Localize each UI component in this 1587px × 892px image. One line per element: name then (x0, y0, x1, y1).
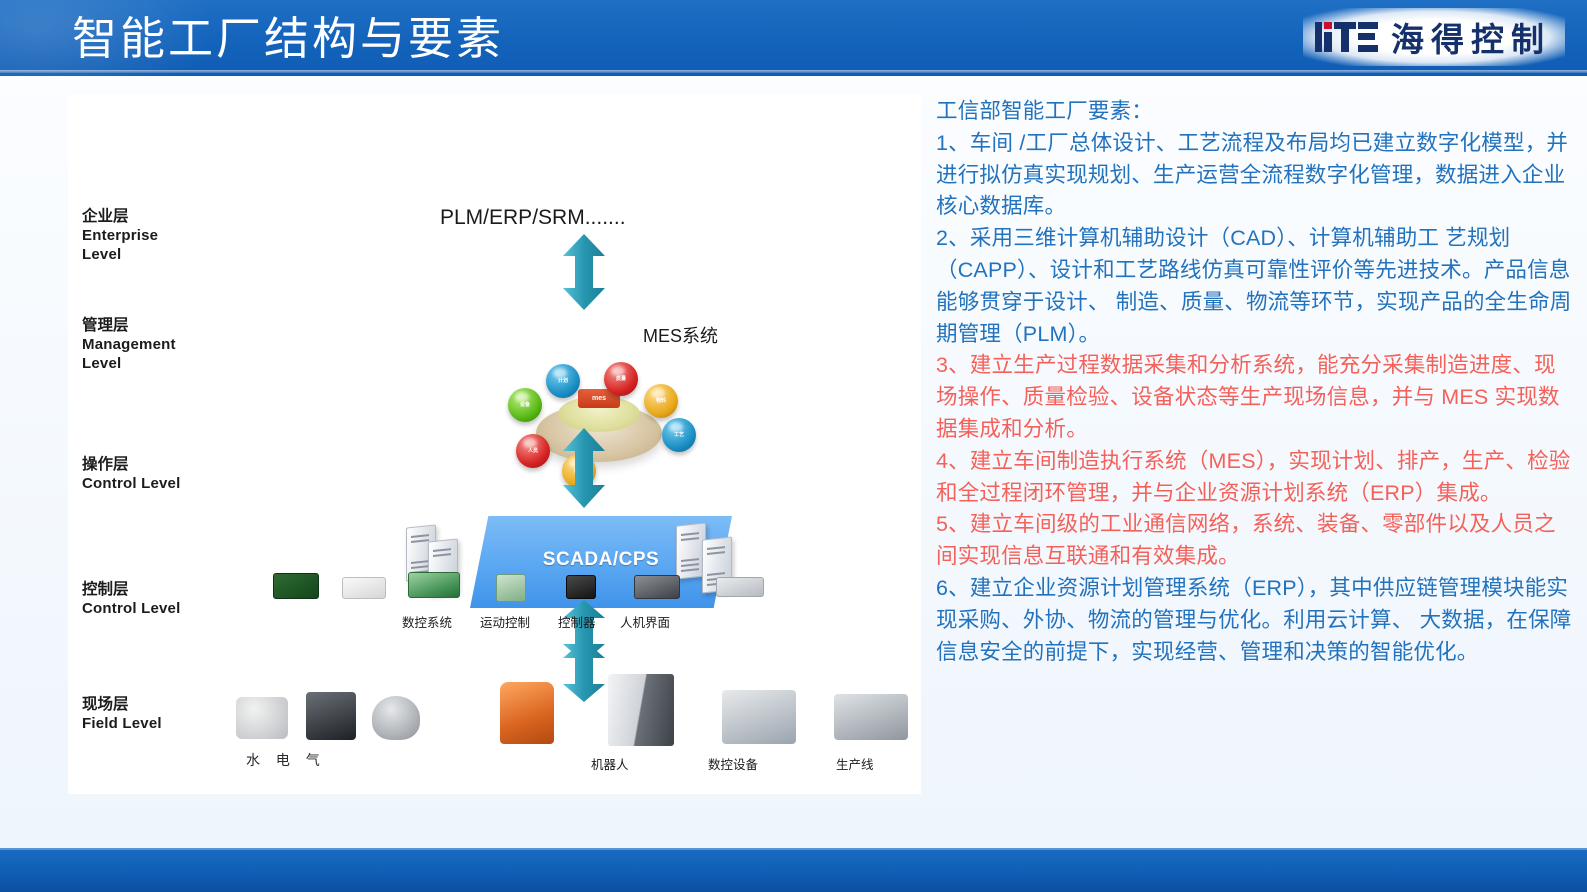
level-cn: 企业层 (82, 207, 158, 226)
device-io-board-icon (273, 573, 319, 599)
level-cn: 控制层 (82, 580, 180, 599)
control-device-label-hmi: 人机界面 (620, 612, 670, 631)
field-production-line-icon (834, 694, 908, 740)
field-gas-valve-icon (372, 696, 420, 740)
level-cn: 管理层 (82, 316, 176, 335)
field-device-label-line: 生产线 (836, 754, 874, 773)
mes-sphere-staff: 人员 (516, 434, 550, 468)
field-device-label-cnc: 数控设备 (708, 754, 758, 773)
level-en: Management (82, 335, 176, 354)
level-cn: 操作层 (82, 455, 180, 474)
field-device-label-robot: 机器人 (591, 754, 629, 773)
plm-erp-srm-label: PLM/ERP/SRM....... (440, 206, 626, 230)
hite-logo-icon (1315, 22, 1378, 52)
slide-header: 智能工厂结构与要素 海得控制 (0, 0, 1587, 76)
level-en2: Level (82, 245, 158, 264)
mes-sphere-equipment: 设备 (508, 388, 542, 422)
smart-factory-architecture-diagram: 企业层 Enterprise Level 管理层 Management Leve… (68, 94, 921, 794)
control-device-label-controller: 控制器 (558, 612, 596, 631)
level-label-field: 现场层 Field Level (82, 695, 162, 733)
control-device-label-motion: 运动控制 (480, 612, 530, 631)
header-divider (0, 70, 1587, 73)
field-water-meter-icon (236, 697, 288, 739)
device-white-module-icon (342, 577, 386, 599)
element-paragraph-4: 4、建立车间制造执行系统（MES），实现计划、排产，生产、检验和全过程闭环管理，… (936, 446, 1576, 510)
mes-sphere-quality: 质量 (604, 362, 638, 396)
field-electric-meter-icon (306, 692, 356, 740)
logo-company-name: 海得控制 (1387, 13, 1551, 61)
mes-sphere-process: 工艺 (662, 418, 696, 452)
device-hmi-icon (634, 575, 680, 599)
mes-sphere-material: 物料 (644, 384, 678, 418)
level-en: Control Level (82, 599, 180, 618)
element-paragraph-5: 5、建立车间级的工业通信网络，系统、装备、零部件以及人员之间实现信息互联通和有效… (936, 509, 1576, 573)
device-controller-icon (566, 575, 596, 599)
mes-sphere-plan: 计划 (546, 364, 580, 398)
field-cnc-equipment-icon (722, 690, 796, 744)
elements-heading: 工信部智能工厂要素： (936, 96, 1576, 128)
company-logo: 海得控制 (1303, 8, 1565, 66)
scada-cps-label: SCADA/CPS (470, 549, 732, 571)
element-paragraph-6: 6、建立企业资源计划管理系统（ERP），其中供应链管理模块能实现采购、外协、物流… (936, 573, 1576, 668)
slide-footer (0, 848, 1587, 892)
device-panel-icon (716, 577, 764, 597)
slide: 智能工厂结构与要素 海得控制 企业层 Enterprise Level 管理层 … (0, 0, 1587, 892)
device-motion-control-icon (496, 574, 526, 602)
arrow-control-to-field-icon (563, 640, 605, 702)
level-cn: 现场层 (82, 695, 162, 714)
field-cnc-machine-icon (608, 674, 674, 746)
arrow-mes-to-scada-icon (563, 428, 605, 508)
level-label-control: 控制层 Control Level (82, 580, 180, 618)
level-en: Field Level (82, 714, 162, 733)
level-en: Control Level (82, 474, 180, 493)
device-cnc-module-icon (408, 572, 460, 598)
field-robot-icon (500, 682, 554, 744)
level-label-management: 管理层 Management Level (82, 316, 176, 373)
control-device-label-cnc: 数控系统 (402, 612, 452, 631)
mes-system-label: MES系统 (643, 322, 718, 348)
page-title: 智能工厂结构与要素 (72, 4, 504, 74)
level-label-enterprise: 企业层 Enterprise Level (82, 207, 158, 264)
smart-factory-elements-text: 工信部智能工厂要素： 1、车间 /工厂总体设计、工艺流程及布局均已建立数字化模型… (936, 96, 1576, 812)
field-utilities-label: 水 电 气 (246, 750, 326, 770)
element-paragraph-2: 2、采用三维计算机辅助设计（CAD）、计算机辅助工 艺规划（CAPP）、设计和工… (936, 223, 1576, 350)
level-label-operation: 操作层 Control Level (82, 455, 180, 493)
arrow-enterprise-to-mes-icon (563, 234, 605, 310)
level-en: Enterprise (82, 226, 158, 245)
level-en2: Level (82, 354, 176, 373)
element-paragraph-1: 1、车间 /工厂总体设计、工艺流程及布局均已建立数字化模型，并进行拟仿真实现规划… (936, 128, 1576, 223)
element-paragraph-3: 3、建立生产过程数据采集和分析系统，能充分采集制造进度、现场操作、质量检验、设备… (936, 350, 1576, 445)
